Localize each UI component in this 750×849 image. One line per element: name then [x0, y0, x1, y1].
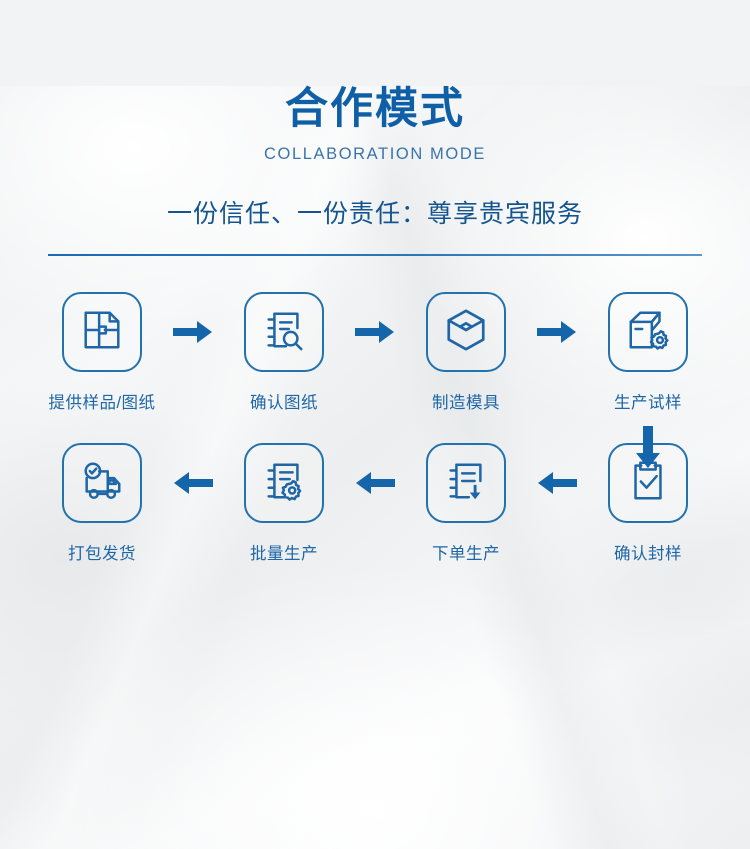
- flow-step-label: 确认封样: [614, 540, 682, 564]
- flow-step-trial-production[interactable]: 生产试样: [586, 292, 710, 413]
- arrow-left-icon-1: [165, 443, 221, 523]
- page-subtitle: COLLABORATION MODE: [0, 145, 750, 164]
- document-search-icon: [261, 307, 307, 358]
- flow-step-label: 打包发货: [68, 540, 136, 564]
- header-divider: [48, 254, 702, 256]
- delivery-truck-check-icon: [79, 458, 125, 509]
- blueprint-document-icon: [79, 307, 125, 358]
- arrow-down-icon: [586, 424, 710, 470]
- icon-box: [62, 292, 142, 372]
- flow-step-label: 批量生产: [250, 540, 318, 564]
- process-flow: 提供样品/图纸 确认图纸: [0, 292, 750, 564]
- page-title: 合作模式: [0, 86, 750, 132]
- document-download-icon: [443, 458, 489, 509]
- box-gear-icon: [625, 307, 671, 358]
- flow-step-label: 下单生产: [432, 540, 500, 564]
- arrow-right-icon-2: [347, 292, 403, 372]
- arrow-left-icon-2: [347, 443, 403, 523]
- icon-box: [426, 443, 506, 523]
- icon-box: [426, 292, 506, 372]
- flow-step-label: 提供样品/图纸: [48, 389, 155, 413]
- flow-step-label: 确认图纸: [250, 389, 318, 413]
- flow-step-provide-sample[interactable]: 提供样品/图纸: [40, 292, 164, 413]
- flow-step-make-mold[interactable]: 制造模具: [404, 292, 528, 413]
- flow-step-pack-and-ship[interactable]: 打包发货: [40, 443, 164, 564]
- flow-step-place-order[interactable]: 下单生产: [404, 443, 528, 564]
- icon-box: [608, 292, 688, 372]
- icon-box: [244, 443, 324, 523]
- arrow-right-icon-3: [529, 292, 585, 372]
- cube-mold-icon: [443, 307, 489, 358]
- flow-step-label: 制造模具: [432, 389, 500, 413]
- flow-row-top: 提供样品/图纸 确认图纸: [40, 292, 710, 413]
- icon-box: [244, 292, 324, 372]
- document-gear-icon: [261, 458, 307, 509]
- page-tagline: 一份信任、一份责任：尊享贵宾服务: [0, 194, 750, 230]
- arrow-right-icon-1: [165, 292, 221, 372]
- flow-step-confirm-drawing[interactable]: 确认图纸: [222, 292, 346, 413]
- icon-box: [62, 443, 142, 523]
- flow-step-label: 生产试样: [614, 389, 682, 413]
- flow-step-mass-production[interactable]: 批量生产: [222, 443, 346, 564]
- collaboration-mode-page: 合作模式 COLLABORATION MODE 一份信任、一份责任：尊享贵宾服务: [0, 86, 750, 849]
- arrow-left-icon-3: [529, 443, 585, 523]
